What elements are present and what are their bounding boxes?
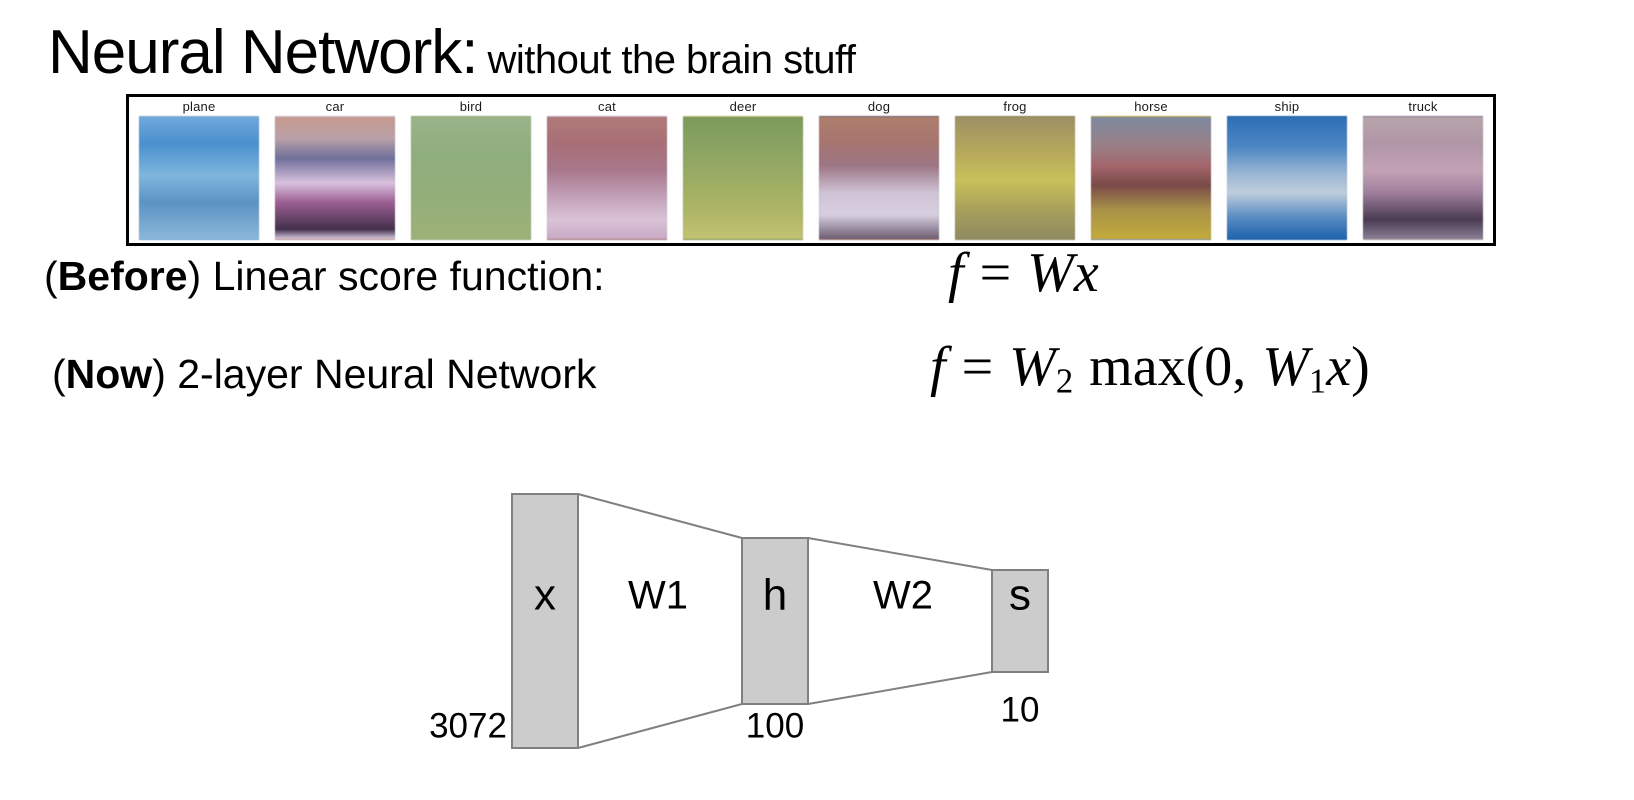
formula-x: x — [1326, 336, 1351, 398]
formula-W2: W — [1009, 336, 1056, 398]
page-title: Neural Network:without the brain stuff — [48, 22, 855, 84]
template-label: ship — [1275, 99, 1300, 115]
formula-W1-subscript: 1 — [1309, 362, 1326, 401]
dimension-label-hidden: 100 — [746, 706, 804, 745]
template-label: deer — [730, 99, 757, 115]
template-cell: plane — [135, 99, 263, 240]
template-label: frog — [1003, 99, 1026, 115]
template-cell: car — [271, 99, 399, 240]
template-image-horse — [1091, 116, 1211, 240]
before-caption: (Before) Linear score function: — [44, 252, 605, 300]
now-text: ) 2-layer Neural Network — [152, 351, 596, 397]
dimension-label-input: 3072 — [429, 706, 507, 745]
dimension-label-output: 10 — [1001, 690, 1040, 729]
formula-equals: = — [962, 336, 994, 398]
template-label: horse — [1134, 99, 1168, 115]
page-title-subtitle: without the brain stuff — [487, 38, 855, 82]
template-label: cat — [598, 99, 616, 115]
formula-linear-score: f = Wx — [948, 243, 1099, 303]
network-diagram: x h s W1 W2 3072 100 10 — [330, 450, 1190, 800]
connector-w2-top — [808, 538, 992, 570]
formula-equals: = — [980, 242, 1012, 304]
formula-W: W — [1027, 242, 1074, 304]
template-cell: dog — [815, 99, 943, 240]
weight-label-w2: W2 — [873, 574, 933, 618]
template-image-cat — [547, 116, 667, 240]
class-template-strip: plane car bird cat deer dog frog horse s… — [126, 94, 1496, 246]
template-label: truck — [1408, 99, 1437, 115]
connector-w1-bottom — [578, 704, 742, 748]
template-label: plane — [183, 99, 216, 115]
formula-W1: W — [1262, 336, 1309, 398]
formula-max: max( — [1089, 336, 1204, 398]
layer-label-hidden: h — [763, 571, 787, 620]
template-cell: frog — [951, 99, 1079, 240]
before-keyword: Before — [58, 253, 188, 299]
template-label: bird — [460, 99, 482, 115]
layer-block-input — [512, 494, 578, 748]
formula-f: f — [930, 336, 946, 398]
page-title-main: Neural Network: — [48, 18, 477, 87]
now-paren-open: ( — [52, 351, 66, 397]
template-image-deer — [683, 116, 803, 240]
layer-block-hidden — [742, 538, 808, 704]
template-image-dog — [819, 116, 939, 240]
template-image-car — [275, 116, 395, 240]
template-image-plane — [139, 116, 259, 240]
connector-w2-bottom — [808, 672, 992, 704]
template-image-frog — [955, 116, 1075, 240]
template-cell: bird — [407, 99, 535, 240]
before-text: ) Linear score function: — [188, 253, 605, 299]
template-cell: horse — [1087, 99, 1215, 240]
formula-paren-close: ) — [1351, 336, 1370, 398]
layer-label-input: x — [534, 571, 556, 620]
template-label: dog — [868, 99, 890, 115]
template-cell: deer — [679, 99, 807, 240]
formula-two-layer: f = W2 max(0, W1x) — [930, 337, 1370, 412]
connector-w1-top — [578, 494, 742, 538]
now-keyword: Now — [66, 351, 153, 397]
template-image-truck — [1363, 116, 1483, 240]
template-cell: ship — [1223, 99, 1351, 240]
template-label: car — [326, 99, 345, 115]
formula-W2-subscript: 2 — [1056, 362, 1073, 401]
weight-label-w1: W1 — [628, 574, 688, 618]
template-cell: cat — [543, 99, 671, 240]
now-caption: (Now) 2-layer Neural Network — [52, 350, 597, 398]
formula-zero: 0, — [1204, 336, 1246, 398]
template-image-bird — [411, 116, 531, 240]
before-paren-open: ( — [44, 253, 58, 299]
formula-f: f — [948, 242, 964, 304]
template-cell: truck — [1359, 99, 1487, 240]
formula-x: x — [1074, 242, 1099, 304]
template-image-ship — [1227, 116, 1347, 240]
layer-label-output: s — [1009, 571, 1031, 620]
